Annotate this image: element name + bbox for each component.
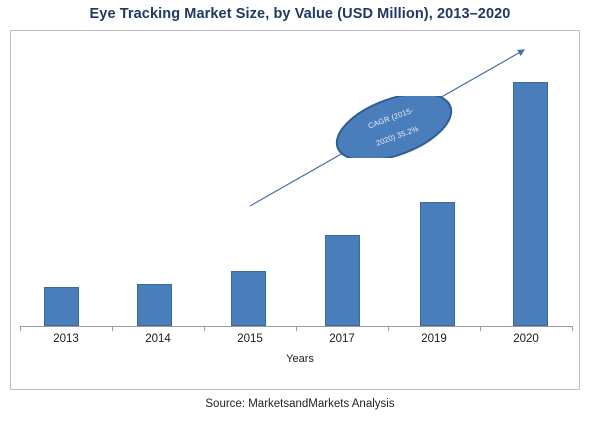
bar-2017[interactable] — [325, 235, 360, 326]
bar-2020[interactable] — [513, 82, 548, 326]
x-axis-tick-5 — [480, 326, 481, 331]
cagr-callout: CAGR (2015- 2020) 35.2% — [332, 96, 456, 158]
bar-2015[interactable] — [231, 271, 266, 326]
x-axis-tick-6 — [572, 326, 573, 331]
x-axis-tick-2 — [204, 326, 205, 331]
x-axis-title: Years — [0, 353, 600, 365]
x-axis-tick-0 — [20, 326, 21, 331]
x-axis-tick-1 — [112, 326, 113, 331]
chart-title: Eye Tracking Market Size, by Value (USD … — [0, 6, 600, 22]
x-axis-label-2017: 2017 — [296, 333, 388, 345]
x-axis-label-2020: 2020 — [480, 333, 572, 345]
bar-2019[interactable] — [420, 202, 455, 326]
bar-2014[interactable] — [137, 284, 172, 326]
x-axis-tick-3 — [296, 326, 297, 331]
x-axis-label-2014: 2014 — [112, 333, 204, 345]
x-axis-label-2019: 2019 — [388, 333, 480, 345]
bar-2013[interactable] — [44, 287, 79, 326]
source-note: Source: MarketsandMarkets Analysis — [0, 398, 600, 410]
chart-container: Eye Tracking Market Size, by Value (USD … — [0, 0, 600, 424]
x-axis-tick-4 — [388, 326, 389, 331]
x-axis-label-2015: 2015 — [204, 333, 296, 345]
x-axis-label-2013: 2013 — [20, 333, 112, 345]
